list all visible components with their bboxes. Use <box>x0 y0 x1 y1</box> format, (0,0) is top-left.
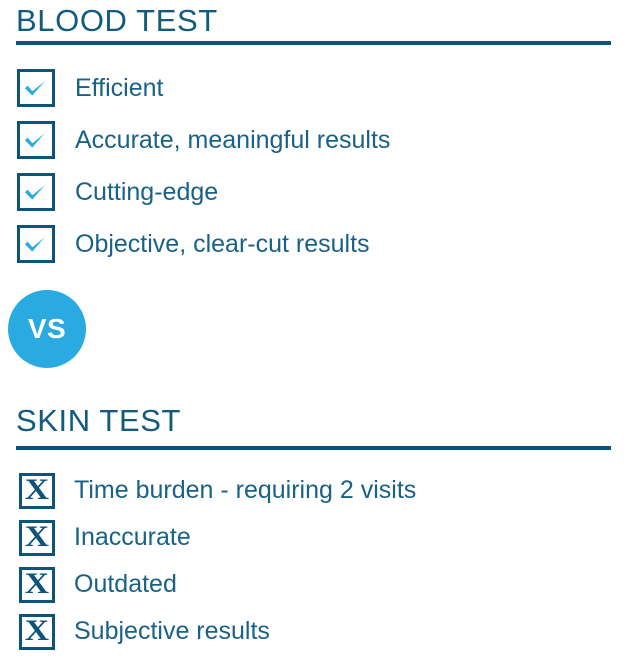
list-item-label: Subjective results <box>74 619 270 644</box>
blood-test-list: Efficient Accurate, meaningful results C… <box>0 62 627 270</box>
list-item-label: Outdated <box>74 572 177 597</box>
blood-test-divider <box>16 41 611 45</box>
blood-test-heading: BLOOD TEST <box>16 5 218 36</box>
x-mark-glyph: X <box>25 475 49 505</box>
skin-test-list: X Time burden - requiring 2 visits X Ina… <box>0 467 627 655</box>
vs-badge-label: VS <box>28 315 66 343</box>
comparison-panel: BLOOD TEST Efficient Accurate, meaningfu… <box>0 0 627 665</box>
x-mark-icon: X <box>19 614 55 650</box>
list-item: Accurate, meaningful results <box>0 114 627 166</box>
list-item: X Subjective results <box>0 608 627 655</box>
x-mark-glyph: X <box>25 522 49 552</box>
list-item: X Inaccurate <box>0 514 627 561</box>
checkmark-icon <box>17 121 55 159</box>
checkmark-icon <box>17 173 55 211</box>
list-item: Cutting-edge <box>0 166 627 218</box>
x-mark-glyph: X <box>25 569 49 599</box>
list-item-label: Objective, clear-cut results <box>75 232 370 257</box>
x-mark-icon: X <box>19 567 55 603</box>
checkmark-icon <box>17 225 55 263</box>
list-item: Objective, clear-cut results <box>0 218 627 270</box>
x-mark-icon: X <box>19 473 55 509</box>
list-item-label: Efficient <box>75 76 163 101</box>
x-mark-icon: X <box>19 520 55 556</box>
list-item: Efficient <box>0 62 627 114</box>
skin-test-divider <box>16 446 611 450</box>
x-mark-glyph: X <box>25 616 49 646</box>
checkmark-icon <box>17 69 55 107</box>
list-item-label: Cutting-edge <box>75 180 218 205</box>
list-item: X Time burden - requiring 2 visits <box>0 467 627 514</box>
list-item-label: Time burden - requiring 2 visits <box>74 478 416 503</box>
vs-badge: VS <box>8 290 86 368</box>
list-item-label: Inaccurate <box>74 525 191 550</box>
list-item-label: Accurate, meaningful results <box>75 128 390 153</box>
list-item: X Outdated <box>0 561 627 608</box>
skin-test-heading: SKIN TEST <box>16 405 181 436</box>
